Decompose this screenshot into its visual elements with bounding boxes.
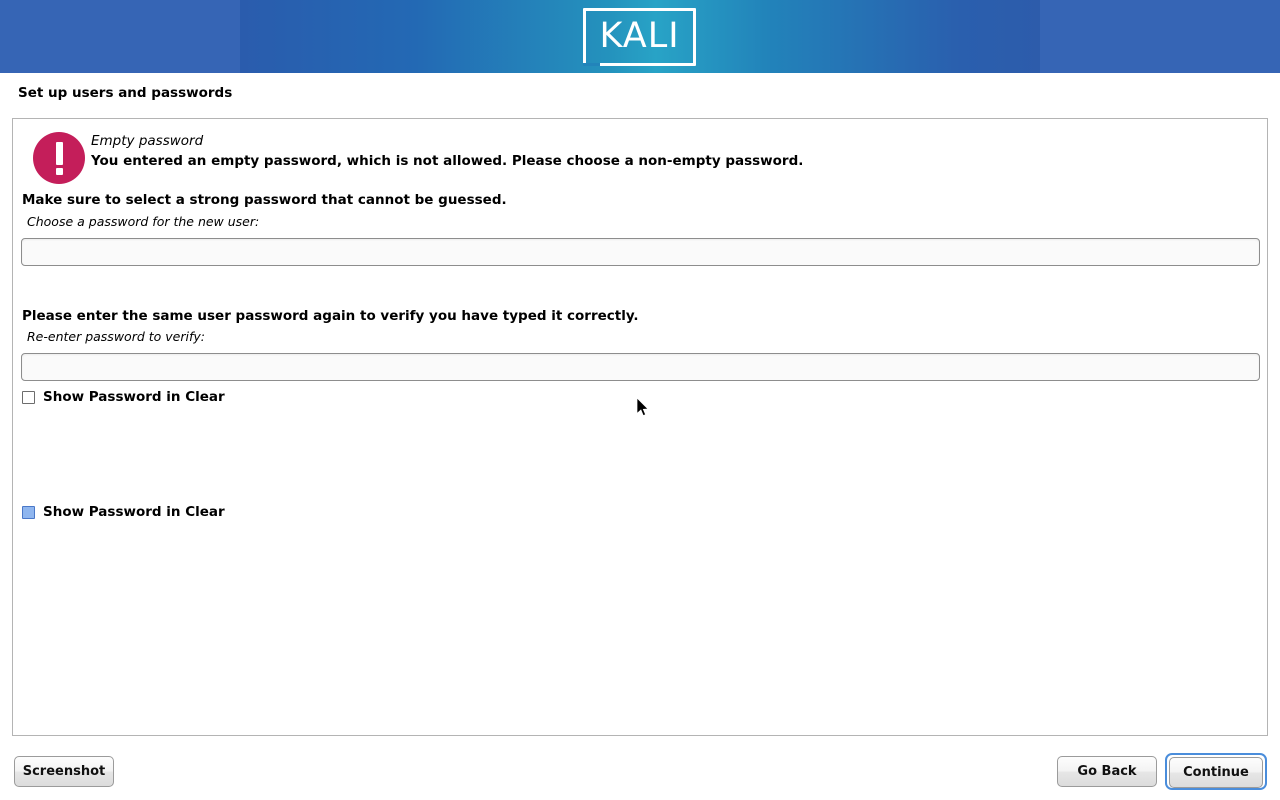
show-password-checkbox-2[interactable] — [22, 506, 35, 519]
password-input[interactable] — [21, 238, 1260, 266]
installer-banner: KALI — [0, 0, 1280, 73]
password-section-heading: Make sure to select a strong password th… — [22, 192, 507, 208]
kali-logo-text: KALI — [599, 19, 679, 54]
verify-password-input[interactable] — [21, 353, 1260, 381]
go-back-button[interactable]: Go Back — [1057, 756, 1157, 787]
show-password-checkbox-label-2: Show Password in Clear — [43, 504, 225, 520]
page-title: Set up users and passwords — [18, 85, 232, 101]
show-password-checkbox-row-2[interactable]: Show Password in Clear — [22, 504, 225, 520]
verify-field-label: Re-enter password to verify: — [27, 329, 205, 344]
password-field-label: Choose a password for the new user: — [27, 214, 259, 229]
error-exclamation-icon — [33, 132, 85, 184]
screenshot-button[interactable]: Screenshot — [14, 756, 114, 787]
exclamation-bar — [56, 142, 63, 165]
error-title: Empty password — [91, 133, 203, 149]
error-message-text: You entered an empty password, which is … — [91, 153, 803, 169]
continue-button[interactable]: Continue — [1169, 757, 1263, 788]
exclamation-dot — [56, 168, 63, 175]
kali-logo-notch — [583, 63, 600, 66]
show-password-checkbox-1[interactable] — [22, 391, 35, 404]
kali-installer-window: KALI Set up users and passwords Empty pa… — [0, 0, 1280, 800]
main-content-panel: Empty password You entered an empty pass… — [12, 118, 1268, 736]
show-password-checkbox-row-1[interactable]: Show Password in Clear — [22, 389, 225, 405]
kali-logo: KALI — [583, 8, 696, 66]
verify-section-heading: Please enter the same user password agai… — [22, 308, 639, 324]
show-password-checkbox-label-1: Show Password in Clear — [43, 389, 225, 405]
